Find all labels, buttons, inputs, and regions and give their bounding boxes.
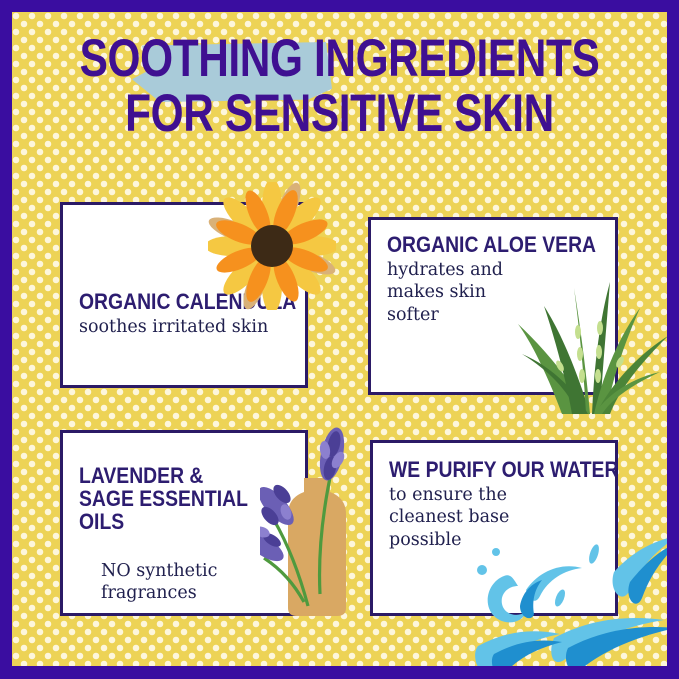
ingredient-card-purified-water: WE PURIFY OUR WATER to ensure the cleane… bbox=[370, 440, 618, 616]
page-title-line-2: FOR SENSITIVE SKIN bbox=[78, 89, 602, 140]
card-body: NO synthetic fragrances bbox=[79, 560, 229, 605]
card-body: hydrates and makes skin softer bbox=[387, 259, 537, 326]
card-heading: LAVENDER & SAGE ESSENTIAL OILS bbox=[79, 465, 259, 534]
card-heading: ORGANIC CALENDULA bbox=[79, 291, 264, 314]
infographic-poster: SOOTHING INGREDIENTS FOR SENSITIVE SKIN … bbox=[0, 0, 679, 679]
card-content: LAVENDER & SAGE ESSENTIAL OILS NO synthe… bbox=[63, 433, 305, 604]
card-content: ORGANIC ALOE VERA hydrates and makes ski… bbox=[371, 220, 615, 326]
ingredient-card-aloe-vera: ORGANIC ALOE VERA hydrates and makes ski… bbox=[368, 217, 618, 395]
card-heading: WE PURIFY OUR WATER bbox=[389, 459, 574, 482]
card-content: ORGANIC CALENDULA soothes irritated skin bbox=[63, 205, 305, 338]
ingredient-card-essential-oils: LAVENDER & SAGE ESSENTIAL OILS NO synthe… bbox=[60, 430, 308, 616]
page-title-line-1: SOOTHING INGREDIENTS bbox=[78, 34, 602, 85]
dotted-background: SOOTHING INGREDIENTS FOR SENSITIVE SKIN … bbox=[12, 12, 667, 666]
card-body: soothes irritated skin bbox=[79, 316, 289, 338]
card-body: to ensure the cleanest base possible bbox=[389, 484, 544, 551]
ingredient-card-calendula: ORGANIC CALENDULA soothes irritated skin bbox=[60, 202, 308, 388]
card-content: WE PURIFY OUR WATER to ensure the cleane… bbox=[373, 443, 615, 551]
card-heading: ORGANIC ALOE VERA bbox=[387, 234, 574, 257]
title-block: SOOTHING INGREDIENTS FOR SENSITIVE SKIN bbox=[12, 34, 667, 140]
